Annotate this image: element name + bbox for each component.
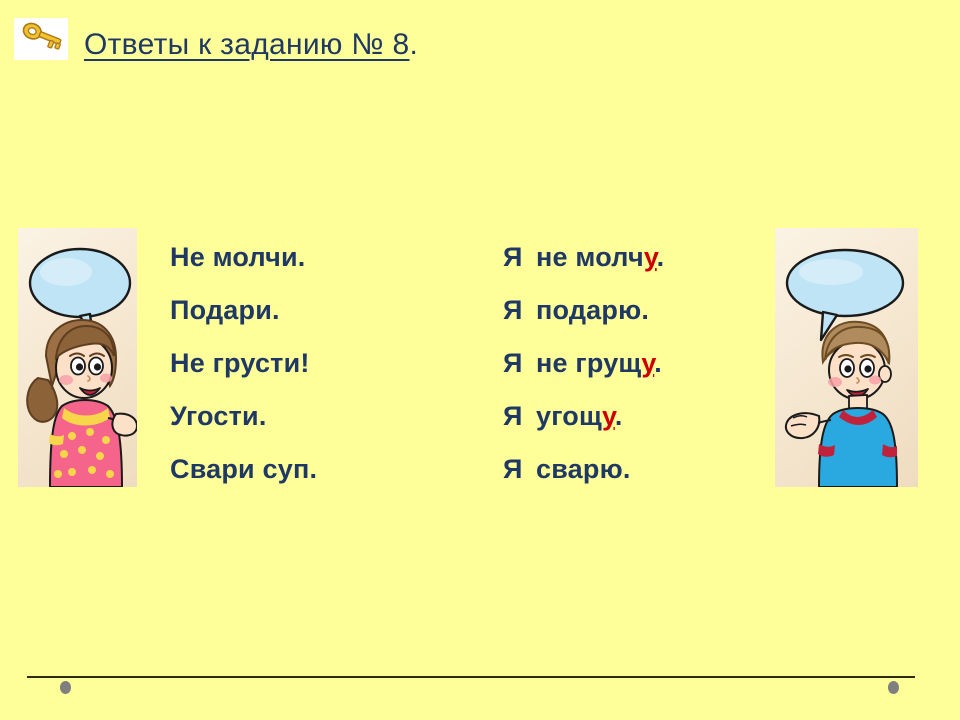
answers-column: Яне молчу. Яподарю. Яне грущу. Яугощу. Я… — [503, 231, 783, 496]
command-line: Не грусти! — [170, 337, 490, 390]
key-icon — [14, 18, 68, 60]
answer-pronoun: Я — [503, 443, 536, 496]
boy-speaking-illustration — [775, 228, 918, 487]
answer-stem: не грущ — [536, 348, 641, 378]
answer-stem: угощ — [536, 401, 602, 431]
answer-pronoun: Я — [503, 284, 536, 337]
command-line: Не молчи. — [170, 231, 490, 284]
answer-punctuation: . — [654, 348, 662, 378]
commands-column: Не молчи. Подари. Не грусти! Угости. Сва… — [170, 231, 490, 496]
answer-stem: не молч — [536, 242, 644, 272]
answer-punctuation: . — [657, 242, 665, 272]
page-title-period: . — [409, 28, 418, 61]
answer-line: Яне молчу. — [503, 231, 783, 284]
answer-line: Яугощу. — [503, 390, 783, 443]
page-title-underlined: Ответы к заданию № 8 — [84, 28, 409, 61]
footer-divider — [27, 676, 915, 678]
answer-ending-highlight: у — [602, 401, 615, 431]
footer-dot-right — [888, 681, 899, 694]
command-line: Подари. — [170, 284, 490, 337]
answer-stem: подарю. — [536, 295, 649, 325]
slide-canvas: Ответы к заданию № 8. — [0, 0, 960, 720]
answer-pronoun: Я — [503, 390, 536, 443]
answer-ending-highlight: у — [644, 242, 657, 272]
answer-ending-highlight: у — [641, 348, 654, 378]
footer-dot-left — [60, 681, 71, 694]
command-line: Угости. — [170, 390, 490, 443]
page-title: Ответы к заданию № 8. — [84, 28, 418, 62]
command-line: Свари суп. — [170, 443, 490, 496]
answer-pronoun: Я — [503, 337, 536, 390]
girl-speaking-illustration — [18, 228, 137, 487]
answer-line: Яподарю. — [503, 284, 783, 337]
answer-punctuation: . — [615, 401, 623, 431]
answer-pronoun: Я — [503, 231, 536, 284]
answer-line: Ясварю. — [503, 443, 783, 496]
answer-stem: сварю. — [536, 454, 631, 484]
answer-line: Яне грущу. — [503, 337, 783, 390]
